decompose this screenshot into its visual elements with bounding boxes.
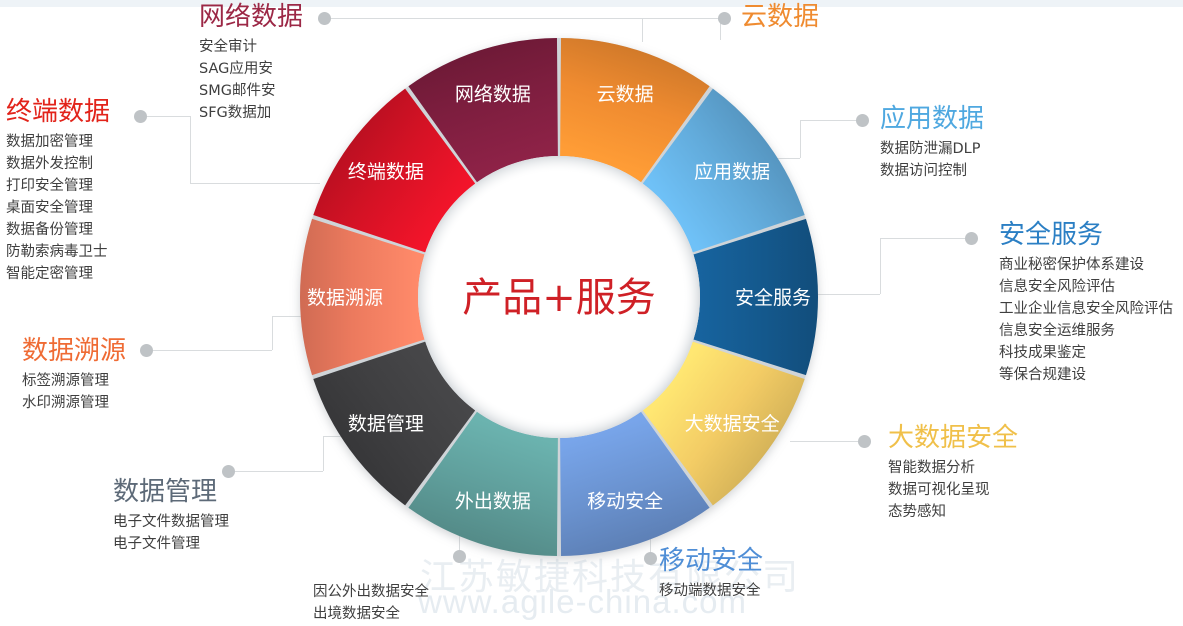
callout-item: 科技成果鉴定 <box>999 342 1173 364</box>
donut-segment-label-trace: 数据溯源 <box>307 287 383 309</box>
callout-item: 因公外出数据安全 <box>313 581 429 603</box>
donut-segment-label-secsvc: 安全服务 <box>735 287 811 309</box>
callout-mobile: 移动安全 移动端数据安全 <box>659 546 763 602</box>
callout-item: 桌面安全管理 <box>6 197 110 219</box>
callout-endpoint-items: 数据加密管理数据外发控制打印安全管理桌面安全管理数据备份管理防勒索病毒卫士智能定… <box>6 131 110 285</box>
callout-item: 数据加密管理 <box>6 131 110 153</box>
callout-item: 标签溯源管理 <box>22 370 126 392</box>
callout-item: 数据可视化呈现 <box>888 479 1018 501</box>
callout-item: 电子文件数据管理 <box>113 511 229 533</box>
donut-segment-label-outbound: 外出数据 <box>455 491 531 513</box>
callout-network: 网络数据 安全审计SAG应用安SMG邮件安SFG数据加 <box>199 2 303 124</box>
callout-outbound-items: 因公外出数据安全出境数据安全 <box>313 581 429 625</box>
callout-outbound: 因公外出数据安全出境数据安全 <box>313 577 429 625</box>
callout-datamgmt-items: 电子文件数据管理电子文件管理 <box>113 511 229 555</box>
callout-bigdata: 大数据安全 智能数据分析数据可视化呈现态势感知 <box>888 423 1018 523</box>
callout-item: SFG数据加 <box>199 102 303 124</box>
callout-secsvc-title: 安全服务 <box>999 220 1173 250</box>
callout-item: 电子文件管理 <box>113 533 229 555</box>
callout-item: 智能数据分析 <box>888 457 1018 479</box>
callout-trace: 数据溯源 标签溯源管理水印溯源管理 <box>22 336 126 414</box>
callout-item: 工业企业信息安全风险评估 <box>999 298 1173 320</box>
callout-item: 数据外发控制 <box>6 153 110 175</box>
donut-segment-label-bigdata: 大数据安全 <box>685 413 780 435</box>
callout-item: SAG应用安 <box>199 58 303 80</box>
callout-network-items: 安全审计SAG应用安SMG邮件安SFG数据加 <box>199 36 303 124</box>
callout-item: 打印安全管理 <box>6 175 110 197</box>
callout-cloud-title: 云数据 <box>741 2 819 32</box>
callout-item: 防勒索病毒卫士 <box>6 241 110 263</box>
callout-app: 应用数据 数据防泄漏DLP数据访问控制 <box>880 104 984 182</box>
callout-item: 商业秘密保护体系建设 <box>999 254 1173 276</box>
infographic-canvas: 江苏敏捷科技有限公司 www.agile-china.com <box>0 0 1183 626</box>
callout-item: 智能定密管理 <box>6 263 110 285</box>
callout-item: 态势感知 <box>888 501 1018 523</box>
donut-segment-label-datamgmt: 数据管理 <box>348 413 424 435</box>
callout-secsvc-items: 商业秘密保护体系建设信息安全风险评估工业企业信息安全风险评估信息安全运维服务科技… <box>999 254 1173 386</box>
donut-segment-label-cloud: 云数据 <box>597 83 654 105</box>
callout-mobile-title: 移动安全 <box>659 546 763 576</box>
donut-segment-label-mobile: 移动安全 <box>587 491 663 513</box>
callout-item: 出境数据安全 <box>313 603 429 625</box>
callout-trace-title: 数据溯源 <box>22 336 126 366</box>
callout-cloud: 云数据 <box>741 2 819 36</box>
callout-app-title: 应用数据 <box>880 104 984 134</box>
callout-network-title: 网络数据 <box>199 2 303 32</box>
callout-item: 数据访问控制 <box>880 160 984 182</box>
callout-endpoint: 终端数据 数据加密管理数据外发控制打印安全管理桌面安全管理数据备份管理防勒索病毒… <box>6 97 110 285</box>
donut-segment-label-endpoint: 终端数据 <box>348 161 424 183</box>
callout-item: 安全审计 <box>199 36 303 58</box>
callout-item: 数据防泄漏DLP <box>880 138 984 160</box>
callout-item: 数据备份管理 <box>6 219 110 241</box>
callout-endpoint-title: 终端数据 <box>6 97 110 127</box>
donut-segment-label-network: 网络数据 <box>455 83 531 105</box>
donut-segment-label-app: 应用数据 <box>694 161 770 183</box>
callout-datamgmt-title: 数据管理 <box>113 477 229 507</box>
callout-item: 移动端数据安全 <box>659 580 763 602</box>
callout-item: 信息安全风险评估 <box>999 276 1173 298</box>
callout-item: 信息安全运维服务 <box>999 320 1173 342</box>
center-label: 产品+服务 <box>462 275 656 321</box>
callout-app-items: 数据防泄漏DLP数据访问控制 <box>880 138 984 182</box>
callout-bigdata-items: 智能数据分析数据可视化呈现态势感知 <box>888 457 1018 523</box>
callout-datamgmt: 数据管理 电子文件数据管理电子文件管理 <box>113 477 229 555</box>
callout-trace-items: 标签溯源管理水印溯源管理 <box>22 370 126 414</box>
callout-bigdata-title: 大数据安全 <box>888 423 1018 453</box>
callout-item: 水印溯源管理 <box>22 392 126 414</box>
callout-secsvc: 安全服务 商业秘密保护体系建设信息安全风险评估工业企业信息安全风险评估信息安全运… <box>999 220 1173 386</box>
callout-item: 等保合规建设 <box>999 364 1173 386</box>
callout-item: SMG邮件安 <box>199 80 303 102</box>
callout-mobile-items: 移动端数据安全 <box>659 580 763 602</box>
